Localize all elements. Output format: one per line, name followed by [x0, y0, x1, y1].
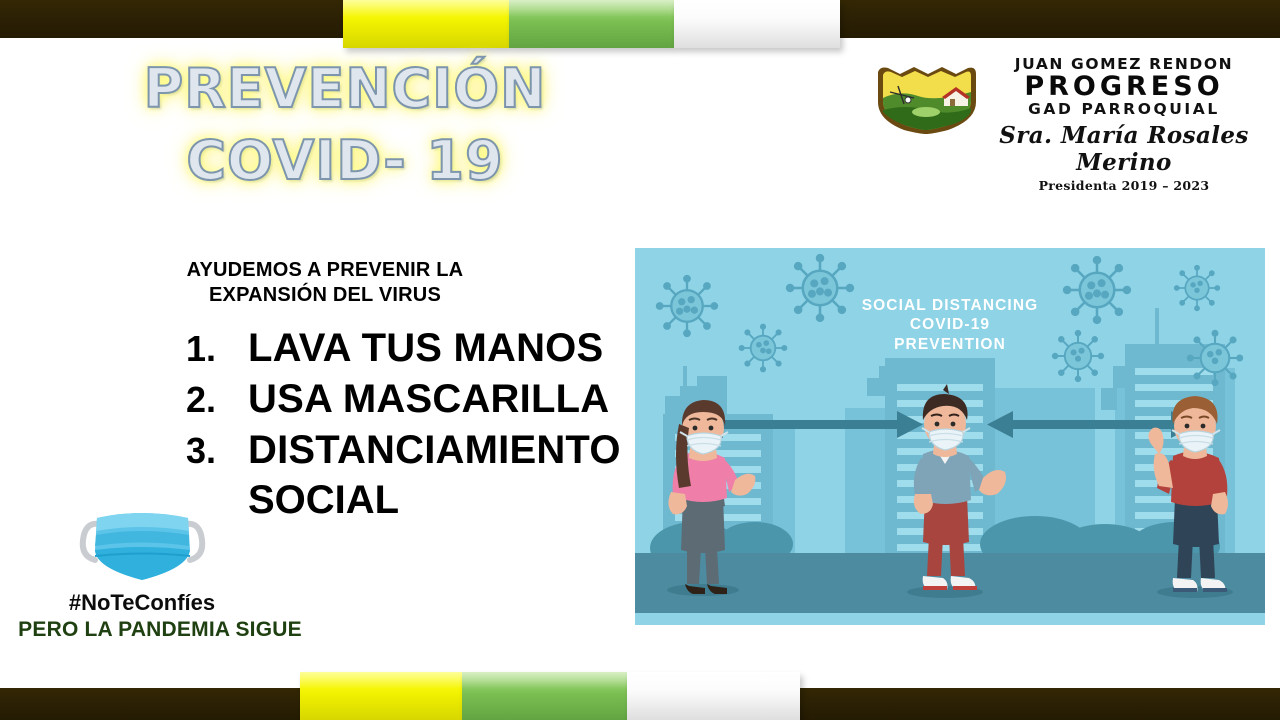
- intro-line-2: EXPANSIÓN DEL VIRUS: [150, 283, 500, 308]
- list-item-label: DISTANCIAMIENTO: [248, 428, 621, 473]
- institution-logo: JUAN GOMEZ RENDON PROGRESO GAD PARROQUIA…: [862, 56, 1262, 166]
- logo-line-1: JUAN GOMEZ RENDON: [990, 56, 1258, 72]
- illustration-title-line-3: PREVENTION: [635, 335, 1265, 354]
- ground: [635, 553, 1265, 613]
- surgical-mask-icon: [75, 498, 210, 590]
- illustration-title-line-2: COVID-19: [635, 315, 1265, 334]
- list-item-number: 3.: [186, 430, 248, 472]
- logo-text-block: JUAN GOMEZ RENDON PROGRESO GAD PARROQUIA…: [990, 56, 1258, 193]
- intro-text: AYUDEMOS A PREVENIR LA EXPANSIÓN DEL VIR…: [150, 258, 500, 308]
- illustration-title: SOCIAL DISTANCING COVID-19 PREVENTION: [635, 296, 1265, 354]
- top-green-block: [509, 0, 674, 48]
- tagline-text: PERO LA PANDEMIA SIGUE: [10, 618, 310, 642]
- social-distancing-illustration: SOCIAL DISTANCING COVID-19 PREVENTION: [635, 248, 1265, 625]
- logo-line-3: GAD PARROQUIAL: [990, 101, 1258, 118]
- president-signature: Sra. María Rosales Merino: [990, 122, 1258, 176]
- prevention-list: 1. LAVA TUS MANOS 2. USA MASCARILLA 3. D…: [186, 326, 686, 523]
- intro-line-1: AYUDEMOS A PREVENIR LA: [150, 258, 500, 283]
- list-item: 1. LAVA TUS MANOS: [186, 326, 686, 371]
- page-title: PREVENCIÓN COVID- 19: [110, 62, 580, 188]
- top-yellow-block: [343, 0, 509, 48]
- hashtag-text: #NoTeConfíes: [22, 590, 262, 616]
- top-white-block: [674, 0, 840, 48]
- title-line-1: PREVENCIÓN: [110, 62, 580, 116]
- list-item-number: 2.: [186, 379, 248, 421]
- list-item: 2. USA MASCARILLA: [186, 377, 686, 422]
- logo-line-2: PROGRESO: [990, 73, 1258, 100]
- progreso-shield-emblem: [870, 62, 982, 134]
- list-item-number: 1.: [186, 328, 248, 370]
- bottom-green-block: [462, 672, 627, 720]
- list-item: 3. DISTANCIAMIENTO: [186, 428, 686, 473]
- list-item-label: LAVA TUS MANOS: [248, 326, 603, 371]
- president-term: Presidenta 2019 – 2023: [990, 178, 1258, 193]
- list-item-label: USA MASCARILLA: [248, 377, 609, 422]
- title-line-2: COVID- 19: [110, 134, 580, 188]
- bottom-white-block: [627, 672, 800, 720]
- illustration-title-line-1: SOCIAL DISTANCING: [635, 296, 1265, 315]
- list-item-continuation: SOCIAL: [248, 478, 686, 523]
- slide: PREVENCIÓN COVID- 19 JUAN GOMEZ RENDON P…: [0, 0, 1280, 720]
- bottom-yellow-block: [300, 672, 462, 720]
